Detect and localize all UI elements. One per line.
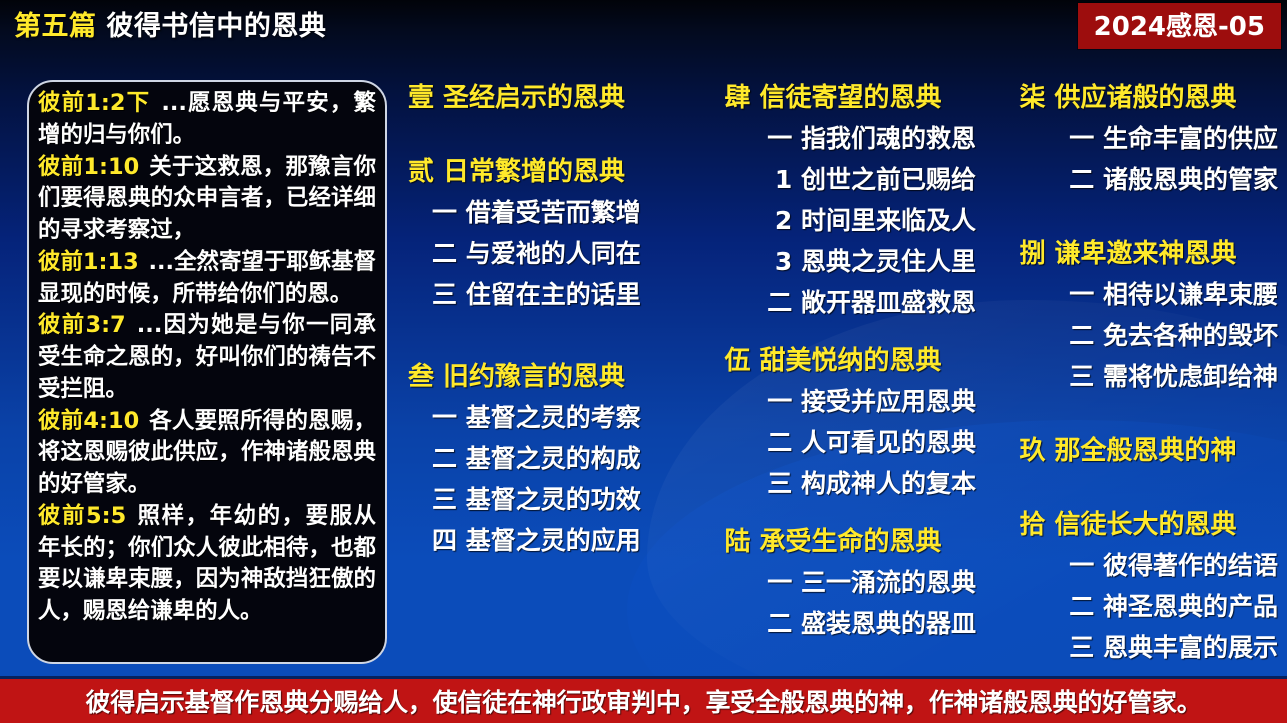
verse-list: 彼前1:2下 ...愿恩典与平安，繁增的归与你们。彼前1:10 关于这救恩，那豫… [38,88,376,628]
section-spacer [690,323,976,341]
outline-section: 叁 旧约豫言的恩典一 基督之灵的考察二 基督之灵的构成三 基督之灵的功效四 基督… [408,357,676,561]
section-spacer [978,471,1278,505]
section-spacer [408,315,676,357]
outline-item: 二 诸般恩典的管家 [978,159,1278,200]
outline-column-3: 肆 信徒寄望的恩典一 指我们魂的救恩1 创世之前已赐给2 时间里来临及人3 恩典… [690,78,976,644]
outline-section: 捌 谦卑邀来神恩典一 相待以谦卑束腰二 免去各种的毁坏三 需将忧虑卸给神 [978,234,1278,397]
summary-banner-text: 彼得启示基督作恩典分赐给人，使信徒在神行政审判中，享受全般恩典的神，作神诸般恩典… [85,683,1201,719]
outline-section-title: 伍 甜美悦纳的恩典 [690,341,976,381]
verse-entry: 彼前1:2下 ...愿恩典与平安，繁增的归与你们。 [38,88,376,152]
outline-item: 二 免去各种的毁坏 [978,315,1278,356]
outline-section-title: 壹 圣经启示的恩典 [408,78,676,118]
slide-canvas: 第五篇 彼得书信中的恩典 2024感恩-05 彼前1:2下 ...愿恩典与平安，… [0,0,1287,723]
verse-reference: 彼前5:5 [38,503,126,529]
chapter-number: 第五篇 [14,11,97,42]
outline-item: 一 三一涌流的恩典 [690,562,976,603]
outline-section-title: 玖 那全般恩典的神 [978,431,1278,471]
outline-section-title: 柒 供应诸般的恩典 [978,78,1278,118]
verse-reference: 彼前1:13 [38,249,139,275]
outline-item: 一 指我们魂的救恩 [690,118,976,159]
verse-entry: 彼前1:13 ...全然寄望于耶稣基督显现的时候，所带给你们的恩。 [38,247,376,311]
verse-entry: 彼前1:10 关于这救恩，那豫言你们要得恩典的众申言者，已经详细的寻求考察过， [38,152,376,247]
outline-item: 二 人可看见的恩典 [690,422,976,463]
outline-item: 一 接受并应用恩典 [690,381,976,422]
verse-reference: 彼前4:10 [38,408,139,434]
outline-item: 一 生命丰富的供应 [978,118,1278,159]
chapter-title: 彼得书信中的恩典 [106,11,326,42]
outline-section-title: 拾 信徒长大的恩典 [978,505,1278,545]
outline-section-title: 贰 日常繁增的恩典 [408,152,676,192]
section-spacer [408,118,676,152]
outline-item: 一 借着受苦而繁增 [408,192,676,233]
page-title: 第五篇 彼得书信中的恩典 [14,4,326,43]
section-spacer [978,397,1278,431]
outline-item: 三 基督之灵的功效 [408,479,676,520]
outline-item: 2 时间里来临及人 [690,200,976,241]
verse-reference: 彼前1:10 [38,154,139,180]
outline-item: 二 神圣恩典的产品 [978,586,1278,627]
outline-section: 伍 甜美悦纳的恩典一 接受并应用恩典二 人可看见的恩典三 构成神人的复本 [690,341,976,504]
outline-column-2: 壹 圣经启示的恩典贰 日常繁增的恩典一 借着受苦而繁增二 与爱祂的人同在三 住留… [408,78,676,561]
section-spacer [978,200,1278,234]
outline-section-title: 陆 承受生命的恩典 [690,522,976,562]
outline-section: 陆 承受生命的恩典一 三一涌流的恩典二 盛装恩典的器皿 [690,522,976,644]
header-bar: 第五篇 彼得书信中的恩典 2024感恩-05 [0,0,1287,46]
outline-section-title: 肆 信徒寄望的恩典 [690,78,976,118]
outline-section: 贰 日常繁增的恩典一 借着受苦而繁增二 与爱祂的人同在三 住留在主的话里 [408,152,676,315]
section-spacer [690,504,976,522]
outline-section: 壹 圣经启示的恩典 [408,78,676,118]
outline-item: 三 恩典丰富的展示 [978,627,1278,668]
outline-section-title: 捌 谦卑邀来神恩典 [978,234,1278,274]
outline-item: 3 恩典之灵住人里 [690,241,976,282]
outline-item: 二 基督之灵的构成 [408,438,676,479]
outline-item: 一 基督之灵的考察 [408,397,676,438]
outline-item: 三 住留在主的话里 [408,274,676,315]
outline-item: 三 需将忧虑卸给神 [978,356,1278,397]
verse-reference: 彼前1:2下 [38,90,150,116]
outline-section-title: 叁 旧约豫言的恩典 [408,357,676,397]
outline-item: 四 基督之灵的应用 [408,520,676,561]
verse-reference: 彼前3:7 [38,312,126,338]
outline-section: 玖 那全般恩典的神 [978,431,1278,471]
verse-panel: 彼前1:2下 ...愿恩典与平安，繁增的归与你们。彼前1:10 关于这救恩，那豫… [27,80,387,664]
outline-item: 一 彼得著作的结语 [978,545,1278,586]
series-badge: 2024感恩-05 [1078,3,1281,49]
outline-item: 一 相待以谦卑束腰 [978,274,1278,315]
outline-item: 1 创世之前已赐给 [690,159,976,200]
outline-section: 拾 信徒长大的恩典一 彼得著作的结语二 神圣恩典的产品三 恩典丰富的展示 [978,505,1278,668]
verse-entry: 彼前4:10 各人要照所得的恩赐，将这恩赐彼此供应，作神诸般恩典的好管家。 [38,406,376,501]
outline-item: 三 构成神人的复本 [690,463,976,504]
outline-section: 肆 信徒寄望的恩典一 指我们魂的救恩1 创世之前已赐给2 时间里来临及人3 恩典… [690,78,976,323]
verse-entry: 彼前3:7 ...因为她是与你一同承受生命之恩的，好叫你们的祷告不受拦阻。 [38,310,376,405]
outline-column-4: 柒 供应诸般的恩典一 生命丰富的供应二 诸般恩典的管家捌 谦卑邀来神恩典一 相待… [978,78,1278,668]
verse-entry: 彼前5:5 照样，年幼的，要服从年长的；你们众人彼此相待，也都要以谦卑束腰，因为… [38,501,376,628]
summary-banner: 彼得启示基督作恩典分赐给人，使信徒在神行政审判中，享受全般恩典的神，作神诸般恩典… [0,676,1287,723]
outline-item: 二 盛装恩典的器皿 [690,603,976,644]
outline-item: 二 敞开器皿盛救恩 [690,282,976,323]
outline-section: 柒 供应诸般的恩典一 生命丰富的供应二 诸般恩典的管家 [978,78,1278,200]
outline-item: 二 与爱祂的人同在 [408,233,676,274]
